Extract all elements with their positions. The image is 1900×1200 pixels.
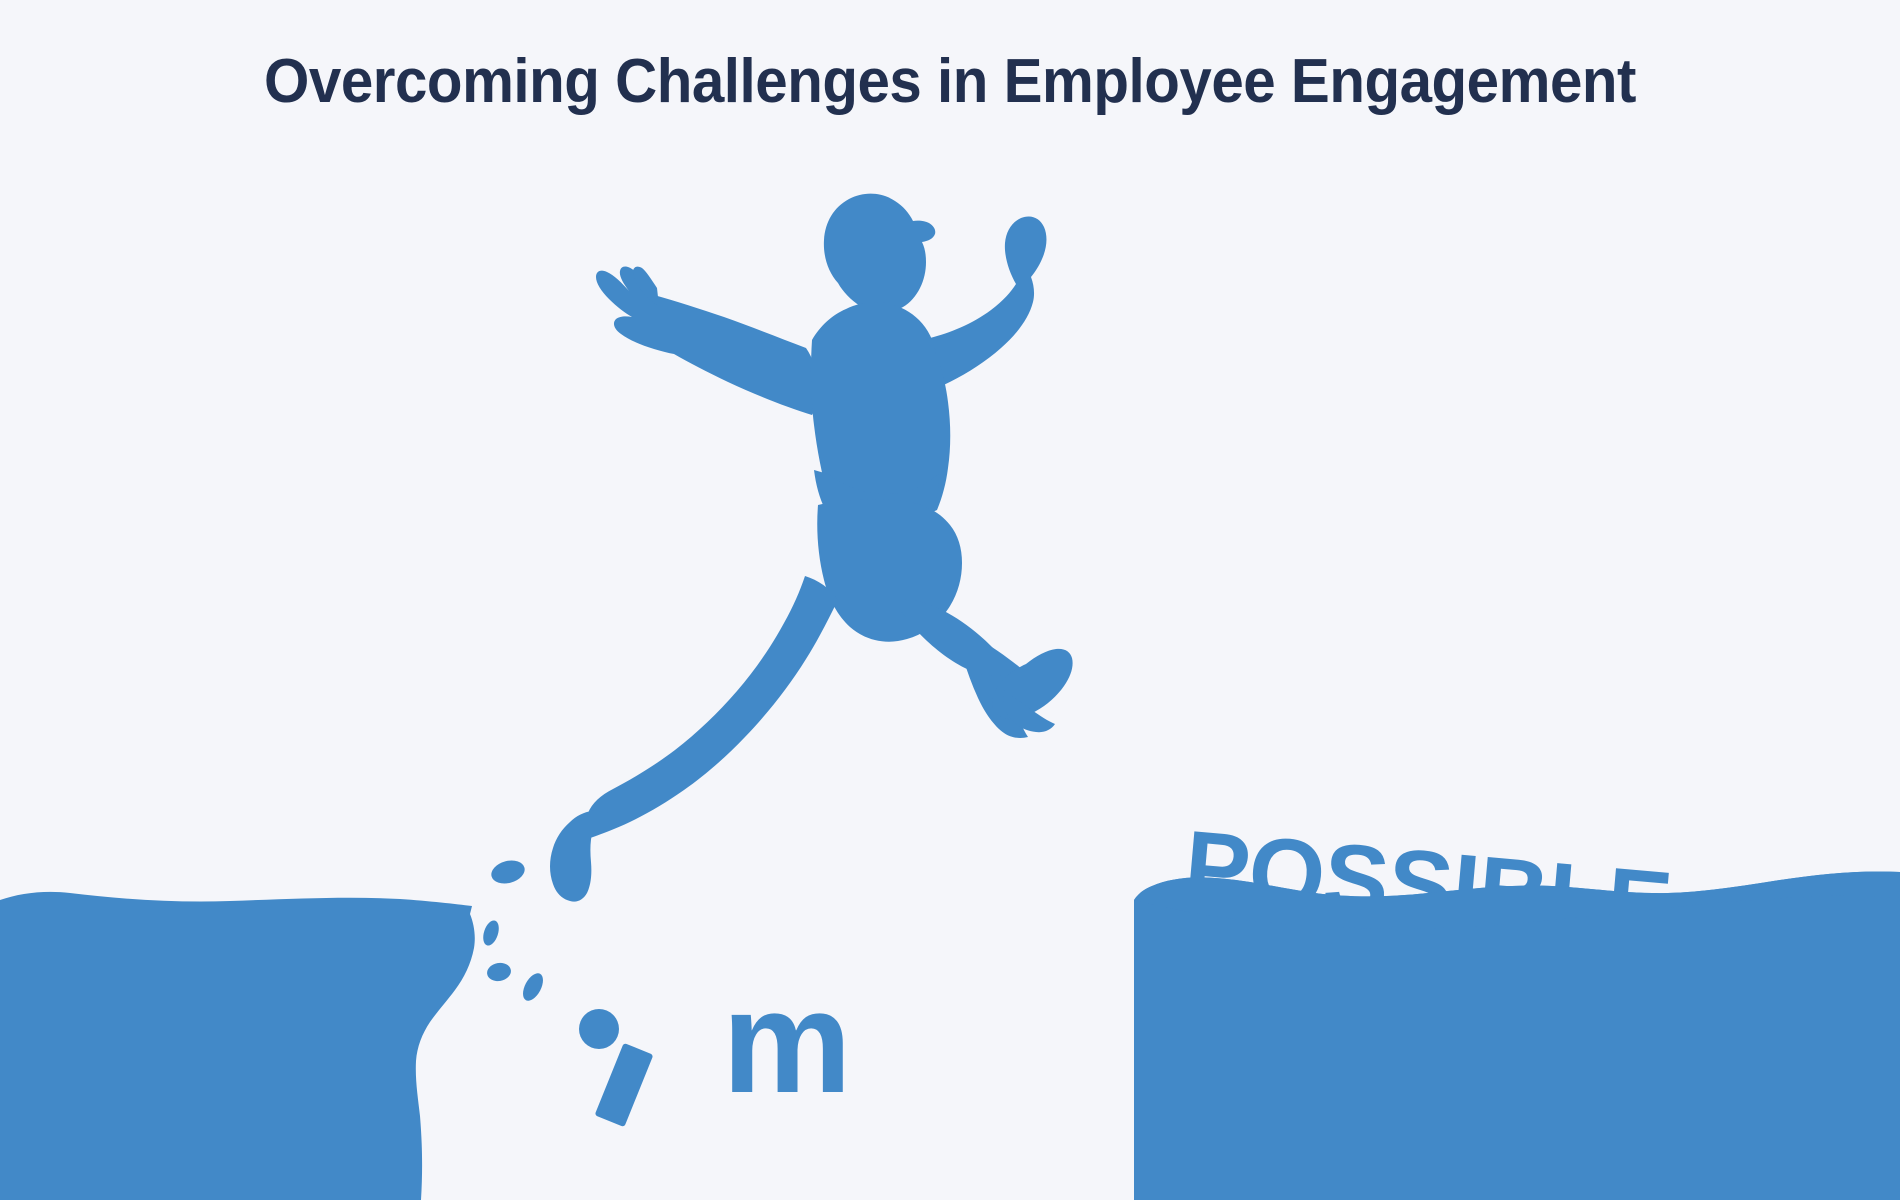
- falling-letter-m: m: [722, 960, 852, 1123]
- crumbling-rock-debris: [480, 857, 547, 1004]
- left-cliff: [0, 892, 475, 1200]
- jumping-person-silhouette: [550, 194, 1073, 902]
- illustration-canvas: Overcoming Challenges in Employee Engage…: [0, 0, 1900, 1200]
- falling-letter-i: [579, 1009, 653, 1127]
- scene-illustration: POSSIBLE m: [0, 0, 1900, 1200]
- svg-text:m: m: [722, 960, 852, 1123]
- right-cliff-foreground-mask: [1134, 871, 1900, 1200]
